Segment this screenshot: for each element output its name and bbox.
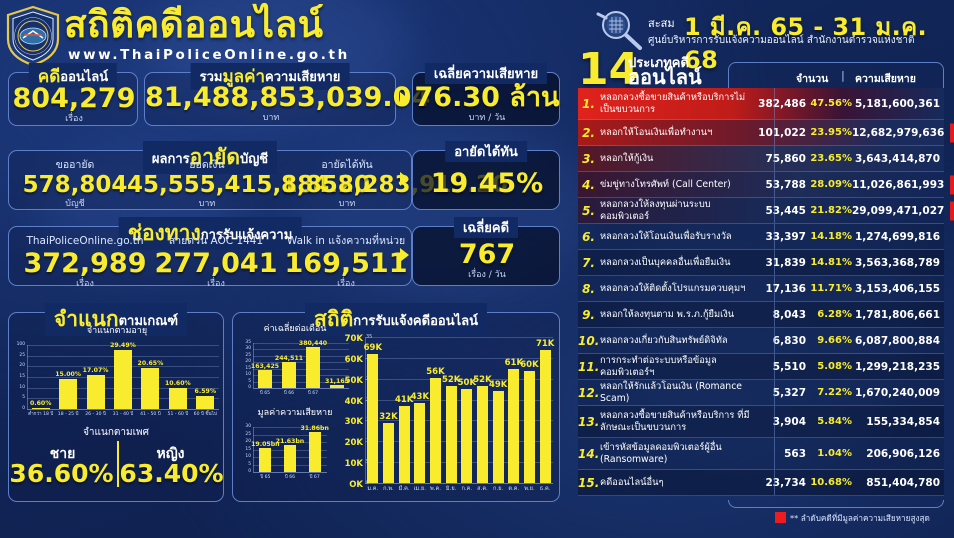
top-damage-rank-badge: 1 [950, 201, 954, 220]
table-row-name: หลอกลวงซื้อขายสินค้าหรือบริการไม่เป็นขบว… [600, 92, 758, 115]
table-row-percent: 6.28% [806, 309, 852, 320]
table-row-damage: 29,099,471,027 [852, 205, 944, 217]
table-row[interactable]: 10.หลอกลวงเกี่ยวกับสินทรัพย์ดิจิทัล6,830… [578, 328, 944, 354]
chart-bar[interactable] [32, 408, 50, 410]
table-row-damage: 5,181,600,361 [852, 98, 944, 110]
chart-bar-label: 71K [533, 339, 558, 349]
table-row[interactable]: 6.หลอกลวงให้โอนเงินเพื่อรับรางวัล33,3971… [578, 224, 944, 250]
table-row-count: 3,904 [758, 416, 806, 428]
chart-bar-label: 10.60% [156, 380, 199, 387]
table-row-percent: 23.95% [806, 127, 852, 138]
case-type-table: 1.หลอกลวงซื้อขายสินค้าหรือบริการไม่เป็นข… [578, 88, 944, 496]
table-row-name: หลอกลวงเป็นบุคคลอื่นเพื่อยืมเงิน [600, 257, 758, 269]
avg-cases-per-month-chart: 05101520253035163,425ปี 65244,511ปี 6638… [237, 335, 353, 399]
chart-y-tick: 35 [241, 340, 251, 345]
table-row-percent: 9.66% [806, 335, 852, 346]
table-row-count: 382,486 [758, 98, 806, 110]
table-row-count: 31,839 [758, 257, 806, 269]
chart-bar[interactable] [196, 396, 214, 409]
flow-arrow-icon [400, 172, 409, 186]
kpi-freeze-pct-value: 19.45% [413, 168, 561, 199]
table-col-damage: ความเสียหาย [855, 70, 916, 87]
chart-y-tick: 25 [13, 353, 25, 358]
table-column-divider [774, 120, 775, 145]
chart-bar-label: 69K [360, 343, 385, 353]
chart-bar[interactable] [284, 445, 296, 472]
table-row-damage: 1,274,699,816 [852, 231, 944, 243]
table-column-divider [774, 276, 775, 301]
chart-y-tick: 5 [241, 462, 251, 467]
table-row-damage: 851,404,780 [852, 477, 944, 489]
table-row-rank: 9. [578, 308, 600, 322]
table-row-percent: 14.81% [806, 257, 852, 268]
kpi-total-damage: รวมมูลค่าความเสียหาย 81,488,853,039.04 บ… [144, 72, 396, 126]
chart-bar[interactable] [383, 423, 394, 483]
table-row-rank: 3. [578, 152, 600, 166]
chart-y-tick: 10 [241, 454, 251, 459]
table-column-divider [774, 438, 775, 469]
kpi-avg-cases-unit: เรื่อง / วัน [413, 270, 561, 281]
table-row-rank: 13. [578, 415, 600, 429]
chart-x-axis [253, 472, 327, 473]
chart-y-tick: 60K [341, 355, 363, 365]
channel-web: ThaiPoliceOnline.go.th 372,989 เรื่อง [11, 235, 159, 290]
table-row-name: ข่มขู่ทางโทรศัพท์ (Call Center) [600, 179, 758, 191]
chart-x-axis [27, 409, 219, 410]
chart-bar[interactable] [259, 448, 271, 472]
accumulated-label: สะสม [648, 14, 675, 32]
table-row-damage: 3,563,368,789 [852, 257, 944, 269]
chart-y-tick: 15 [13, 374, 25, 379]
chart-bar[interactable] [399, 406, 410, 483]
chart-y-tick: 30 [241, 346, 251, 351]
table-row-name: หลอกลวงให้ลงทุนผ่านระบบคอมพิวเตอร์ [600, 199, 758, 222]
table-row[interactable]: 4.ข่มขู่ทางโทรศัพท์ (Call Center)53,7882… [578, 172, 944, 198]
table-row-rank: 8. [578, 282, 600, 296]
case-type-label-line2: ออนไลน์ [628, 66, 702, 88]
table-row-name: หลอกให้โอนเงินเพื่อทำงานฯ [600, 127, 758, 139]
table-row-percent: 14.18% [806, 231, 852, 242]
table-row-rank: 14. [578, 447, 600, 461]
police-shield-logo-icon [4, 5, 62, 67]
table-column-divider [774, 172, 775, 197]
table-row-count: 53,788 [758, 179, 806, 191]
table-row-damage: 1,670,240,009 [852, 387, 944, 399]
table-row-damage: 6,087,800,884 [852, 335, 944, 347]
chart-bar-label: 21.63bn [273, 438, 308, 445]
kpi-online-cases-unit: เรื่อง [9, 114, 139, 125]
footnote-marker-icon [775, 512, 786, 523]
chart-y-tick: 20 [13, 363, 25, 368]
chart-y-tick: 20K [341, 438, 363, 448]
channel-hotline: สายด่วน AOC 1441 277,041 เรื่อง [151, 235, 281, 290]
kpi-avg-damage-unit: บาท / วัน [413, 113, 561, 124]
table-row-percent: 28.09% [806, 179, 852, 190]
kpi-total-damage-value: 81,488,853,039.04 [145, 82, 397, 113]
age-distribution-chart: 05101520251000.60%ต่ำกว่า 18 ปี15.00%18 … [9, 337, 225, 421]
chart-bar[interactable] [258, 370, 271, 388]
gender-female-value: 63.40% [119, 459, 224, 488]
table-row-rank: 4. [578, 178, 600, 192]
table-row-damage: 1,299,218,235 [852, 361, 944, 373]
chart-y-tick: 30 [241, 424, 251, 429]
age-chart-title: จำแนกตามอายุ [9, 323, 225, 337]
table-row-rank: 1. [578, 97, 600, 111]
chart-bar[interactable] [461, 389, 472, 483]
table-row-percent: 11.71% [806, 283, 852, 294]
table-row-count: 5,327 [758, 387, 806, 399]
kpi-avg-damage-caption: เฉลี่ยความเสียหาย [425, 63, 547, 84]
chart-y-tick: 50K [341, 376, 363, 386]
table-row-count: 563 [758, 448, 806, 460]
chart-y-tick: 10 [13, 385, 25, 390]
chart-bar-label: 29.49% [102, 342, 145, 349]
kpi-avg-cases-value: 767 [413, 239, 561, 270]
chart-bar-label: 6.59% [184, 388, 227, 395]
chart-bar-label: 17.07% [74, 367, 117, 374]
table-row-damage: 11,026,861,993 [852, 179, 944, 191]
table-row[interactable]: 3.หลอกให้กู้เงิน75,86023.65%3,643,414,87… [578, 146, 944, 172]
chart-bar[interactable] [282, 362, 295, 388]
freeze-amount: ยอดเงิน 45,555,415,184.20 บาท [127, 159, 287, 210]
table-row-name: การกระทำต่อระบบหรือข้อมูลคอมพิวเตอร์ฯ [600, 355, 758, 378]
chart-bar[interactable] [306, 347, 319, 388]
table-col-count: จำนวน [796, 70, 828, 87]
table-row[interactable]: 9.หลอกให้ลงทุนตาม พ.ร.ภ.กู้ยืมเงิน8,0436… [578, 302, 944, 328]
organization-name: ศูนย์บริหารการรับแจ้งความออนไลน์ สำนักงา… [648, 33, 915, 48]
chart-bar[interactable] [477, 386, 488, 483]
chart-bar[interactable] [414, 403, 425, 483]
table-row-percent: 23.65% [806, 153, 852, 164]
dashboard-root: สถิติคดีออนไลน์ www.ThaiPoliceOnline.go.… [0, 0, 954, 538]
table-row[interactable]: 14.เข้ารหัสข้อมูลคอมพิวเตอร์ผู้อื่น (Ran… [578, 438, 944, 470]
chart-x-tick: ปี 67 [300, 474, 330, 481]
table-row-name: หลอกลวงให้โอนเงินเพื่อรับรางวัล [600, 231, 758, 243]
table-row-count: 53,445 [758, 205, 806, 217]
chart-bar[interactable] [540, 350, 551, 483]
table-column-divider [774, 470, 775, 495]
chart-bar-label: 49K [486, 380, 511, 390]
table-row-percent: 21.82% [806, 205, 852, 216]
chart-gridline [253, 349, 349, 350]
damage-value-chart: 05101520253019.05bnปี 6521.63bnปี 6631.8… [237, 419, 353, 483]
table-column-divider [774, 146, 775, 171]
chart-bar[interactable] [446, 386, 457, 483]
chart-bar-label: 32K [376, 412, 401, 422]
table-row-count: 5,510 [758, 361, 806, 373]
avg-per-month-chart-title: ค่าเฉลี่ยต่อเดือน [237, 321, 353, 335]
chart-y-tick: 10 [241, 372, 251, 377]
table-column-divider [774, 88, 775, 119]
chart-bar-label: 43K [407, 392, 432, 402]
table-column-divider [774, 302, 775, 327]
table-row-name: เข้ารหัสข้อมูลคอมพิวเตอร์ผู้อื่น (Ransom… [600, 442, 758, 465]
table-row-damage: 206,906,126 [852, 448, 944, 460]
chart-y-tick: 30K [341, 417, 363, 427]
chart-bar[interactable] [430, 378, 441, 483]
table-row[interactable]: 1.หลอกลวงซื้อขายสินค้าหรือบริการไม่เป็นข… [578, 88, 944, 120]
chart-bar-label: 244,511 [272, 355, 307, 362]
table-row-rank: 5. [578, 204, 600, 218]
report-channel-panel: ช่องทางการรับแจ้งความ ThaiPoliceOnline.g… [8, 226, 412, 286]
chart-gridline [365, 337, 553, 338]
chart-bar[interactable] [493, 391, 504, 483]
table-row-percent: 10.68% [806, 477, 852, 488]
chart-y-tick: 0 [241, 469, 251, 474]
table-row[interactable]: 8.หลอกลวงให้ติดตั้งโปรแกรมควบคุมฯ17,1361… [578, 276, 944, 302]
table-footnote: ** ลำดับคดีที่มีมูลค่าความเสียหายสูงสุด [790, 512, 930, 525]
chart-y-tick: 25 [241, 353, 251, 358]
kpi-total-damage-unit: บาท [145, 113, 397, 124]
table-row-damage: 12,682,979,636 [852, 127, 944, 139]
table-column-divider [774, 328, 775, 353]
table-col-separator: | [841, 70, 845, 82]
table-row-name: หลอกลวงเกี่ยวกับสินทรัพย์ดิจิทัล [600, 335, 758, 347]
table-row-damage: 155,334,854 [852, 416, 944, 428]
chart-y-tick: 10K [341, 459, 363, 469]
channel-walkin: Walk in แจ้งความที่หน่วย 169,511 เรื่อง [279, 235, 413, 290]
table-row[interactable]: 11.การกระทำต่อระบบหรือข้อมูลคอมพิวเตอร์ฯ… [578, 354, 944, 380]
chart-bar-label: 380,440 [296, 340, 331, 347]
table-row[interactable]: 12.หลอกให้รักแล้วโอนเงิน (Romance Scam)5… [578, 380, 944, 406]
table-row-name: คดีออนไลน์อื่นๆ [600, 477, 758, 489]
table-column-divider [774, 406, 775, 437]
table-column-divider [774, 224, 775, 249]
kpi-online-cases-value: 804,279 [9, 83, 139, 114]
table-row-damage: 1,781,806,661 [852, 309, 944, 321]
freeze-requested: ขออายัด 578,804 บัญชี [15, 159, 135, 210]
kpi-online-cases: คดีออนไลน์ 804,279 เรื่อง [8, 72, 138, 126]
flow-arrow-icon [400, 92, 409, 106]
table-row-damage: 3,643,414,870 [852, 153, 944, 165]
chart-bar[interactable] [87, 375, 105, 409]
top-damage-rank-badge: 2 [950, 123, 954, 142]
table-row[interactable]: 2.หลอกให้โอนเงินเพื่อทำงานฯ101,02223.95%… [578, 120, 944, 146]
table-row-count: 8,043 [758, 309, 806, 321]
table-row-name: หลอกลวงให้ติดตั้งโปรแกรมควบคุมฯ [600, 283, 758, 295]
kpi-freeze-pct-caption: อายัดได้ทัน [445, 141, 527, 162]
monthly-stats-panel: สถิติการรับแจ้งคดีออนไลน์ ค่าเฉลี่ยต่อเด… [232, 312, 560, 502]
freeze-in-time: อายัดได้ทัน 8,858,283,919.20 บาท [281, 159, 413, 210]
chart-bar[interactable] [141, 368, 159, 409]
table-column-divider [774, 380, 775, 405]
table-column-divider [774, 250, 775, 275]
top-damage-rank-badge: 3 [950, 175, 954, 194]
table-row-count: 6,830 [758, 335, 806, 347]
table-row-percent: 1.04% [806, 448, 852, 459]
chart-y-tick: OK [341, 480, 363, 490]
table-row-rank: 11. [578, 360, 600, 374]
chart-y-tick: 25 [241, 432, 251, 437]
damage-value-chart-title: มูลค่าความเสียหาย [237, 405, 353, 419]
monthly-reports-chart: OK10K20K30K40K50K60K70K0510152025303569K… [339, 321, 557, 497]
chart-bar[interactable] [508, 369, 519, 483]
gender-male-value: 36.60% [9, 459, 114, 488]
table-row-rank: 7. [578, 256, 600, 270]
table-row-count: 33,397 [758, 231, 806, 243]
table-bottom-frame [728, 500, 944, 508]
table-row-percent: 47.56% [806, 98, 852, 109]
chart-bar-label: 0.60% [19, 400, 62, 407]
table-row-rank: 10. [578, 334, 600, 348]
table-column-divider [774, 198, 775, 223]
table-row[interactable]: 7.หลอกลวงเป็นบุคคลอื่นเพื่อยืมเงิน31,839… [578, 250, 944, 276]
table-row[interactable]: 13.หลอกลวงซื้อขายสินค้าหรือบริการ ที่มีล… [578, 406, 944, 438]
table-row-percent: 5.84% [806, 416, 852, 427]
table-row[interactable]: 5.หลอกลวงให้ลงทุนผ่านระบบคอมพิวเตอร์53,4… [578, 198, 944, 224]
chart-y-axis [253, 427, 254, 472]
chart-bar-label: 20.65% [129, 360, 172, 367]
table-row-percent: 5.08% [806, 361, 852, 372]
chart-bar[interactable] [309, 432, 321, 472]
table-row-count: 101,022 [758, 127, 806, 139]
table-row-damage: 3,153,406,155 [852, 283, 944, 295]
chart-bar-label: 60K [517, 360, 542, 370]
table-row-name: หลอกให้ลงทุนตาม พ.ร.ภ.กู้ยืมเงิน [600, 309, 758, 321]
table-row-rank: 15. [578, 476, 600, 490]
chart-x-axis [253, 388, 349, 389]
table-row-count: 23,734 [758, 477, 806, 489]
table-row-name: หลอกให้กู้เงิน [600, 153, 758, 165]
table-row[interactable]: 15.คดีออนไลน์อื่นๆ23,73410.68%851,404,78… [578, 470, 944, 496]
chart-x-axis [365, 483, 553, 484]
kpi-avg-damage-value: 76.30 ล้าน [413, 82, 561, 113]
gender-chart-title: จำแนกตามเพศ [9, 425, 223, 440]
table-row-name: หลอกลวงซื้อขายสินค้าหรือบริการ ที่มีลักษ… [600, 410, 758, 433]
chart-x-tick: 60 ปี ขึ้นไป [187, 411, 224, 418]
table-row-count: 75,860 [758, 153, 806, 165]
kpi-avg-cases-caption: เฉลี่ยคดี [454, 217, 518, 238]
chart-bar-label: 163,425 [248, 363, 283, 370]
kpi-freeze-pct: อายัดได้ทัน 19.45% [412, 150, 560, 210]
freeze-account-panel: ผลการอายัดบัญชี ขออายัด 578,804 บัญชี ยอ… [8, 150, 412, 210]
table-row-name: หลอกให้รักแล้วโอนเงิน (Romance Scam) [600, 381, 758, 404]
chart-x-tick: ธ.ค. [534, 485, 556, 493]
kpi-avg-cases: เฉลี่ยคดี 767 เรื่อง / วัน [412, 226, 560, 286]
table-row-count: 17,136 [758, 283, 806, 295]
demographics-panel: จำแนกตามเกณฑ์ จำแนกตามอายุ 0510152025100… [8, 312, 224, 502]
chart-bar-label: 31.86bn [297, 425, 332, 432]
table-row-percent: 7.22% [806, 387, 852, 398]
page-title: สถิติคดีออนไลน์ [64, 4, 324, 46]
table-row-rank: 12. [578, 386, 600, 400]
flow-arrow-icon [400, 248, 409, 262]
kpi-avg-damage: เฉลี่ยความเสียหาย 76.30 ล้าน บาท / วัน [412, 72, 560, 126]
site-url: www.ThaiPoliceOnline.go.th [68, 47, 350, 63]
table-row-rank: 6. [578, 230, 600, 244]
chart-bar[interactable] [524, 371, 535, 483]
chart-x-tick: ปี 67 [298, 390, 328, 397]
table-row-rank: 2. [578, 126, 600, 140]
chart-y-tick-secondary: 35 [366, 334, 372, 340]
chart-y-tick: 100 [13, 342, 25, 347]
table-column-divider [774, 354, 775, 379]
chart-y-tick: 40K [341, 397, 363, 407]
chart-bar[interactable] [59, 379, 77, 409]
chart-y-tick: 5 [241, 379, 251, 384]
